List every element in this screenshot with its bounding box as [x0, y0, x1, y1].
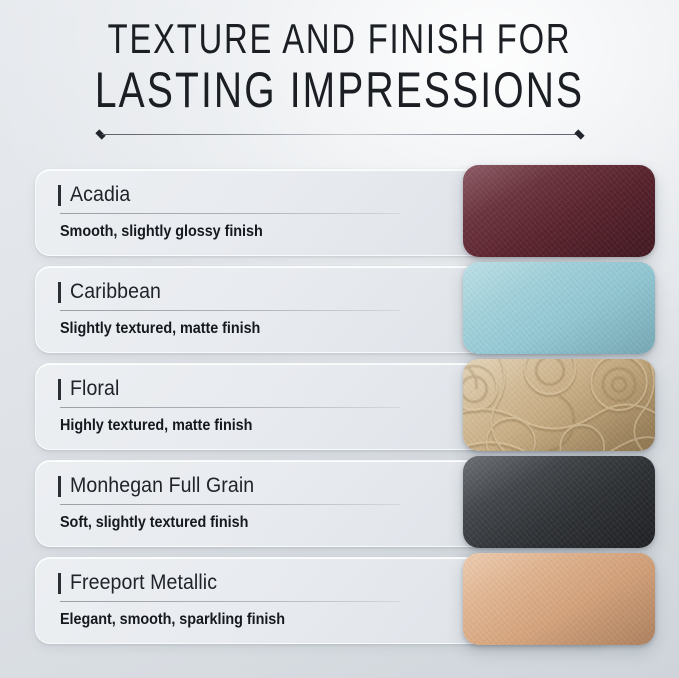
swatch-sheen — [463, 553, 655, 645]
swatch-row: AcadiaSmooth, slightly glossy finish — [0, 165, 679, 262]
swatch-card-body: AcadiaSmooth, slightly glossy finish — [58, 182, 458, 241]
swatch-name-line: Monhegan Full Grain — [58, 473, 458, 499]
diamond-right-icon — [574, 129, 584, 139]
swatch-sheen — [463, 262, 655, 354]
divider-ornament — [96, 130, 584, 139]
swatch-description: Highly textured, matte finish — [60, 417, 418, 435]
swatch-name: Floral — [70, 377, 119, 401]
accent-bar-icon — [58, 379, 61, 400]
page-title-line-1: TEXTURE AND FINISH FOR — [75, 18, 605, 61]
swatch-description: Slightly textured, matte finish — [60, 320, 418, 338]
swatch-name: Freeport Metallic — [70, 571, 217, 595]
swatch-name: Caribbean — [70, 280, 161, 304]
swatch-name-underline — [60, 213, 400, 214]
swatch-card-body: FloralHighly textured, matte finish — [58, 376, 458, 435]
swatch-name-underline — [60, 310, 400, 311]
color-swatch[interactable] — [463, 262, 655, 354]
color-swatch[interactable] — [463, 553, 655, 645]
infographic-page: TEXTURE AND FINISH FOR LASTING IMPRESSIO… — [0, 0, 679, 678]
swatch-name-line: Floral — [58, 376, 458, 402]
accent-bar-icon — [58, 282, 61, 303]
swatch-name-underline — [60, 504, 400, 505]
swatch-row: Freeport MetallicElegant, smooth, sparkl… — [0, 553, 679, 650]
accent-bar-icon — [58, 476, 61, 497]
swatch-name: Monhegan Full Grain — [70, 474, 254, 498]
swatch-card-body: Monhegan Full GrainSoft, slightly textur… — [58, 473, 458, 532]
color-swatch[interactable] — [463, 359, 655, 451]
accent-bar-icon — [58, 185, 61, 206]
swatch-sheen — [463, 359, 655, 451]
page-header: TEXTURE AND FINISH FOR LASTING IMPRESSIO… — [0, 18, 679, 116]
swatch-row: Monhegan Full GrainSoft, slightly textur… — [0, 456, 679, 553]
divider-rule — [102, 134, 578, 135]
swatch-description: Smooth, slightly glossy finish — [60, 223, 418, 241]
swatch-name-underline — [60, 407, 400, 408]
swatch-sheen — [463, 165, 655, 257]
swatch-card-body: Freeport MetallicElegant, smooth, sparkl… — [58, 570, 458, 629]
swatch-description: Soft, slightly textured finish — [60, 514, 418, 532]
color-swatch[interactable] — [463, 456, 655, 548]
swatch-name-line: Freeport Metallic — [58, 570, 458, 596]
swatch-list: AcadiaSmooth, slightly glossy finishCari… — [0, 165, 679, 650]
swatch-row: CaribbeanSlightly textured, matte finish — [0, 262, 679, 359]
swatch-name-underline — [60, 601, 400, 602]
swatch-name: Acadia — [70, 183, 130, 207]
swatch-name-line: Caribbean — [58, 279, 458, 305]
page-title-line-2: LASTING IMPRESSIONS — [75, 65, 605, 116]
swatch-description: Elegant, smooth, sparkling finish — [60, 611, 418, 629]
swatch-row: FloralHighly textured, matte finish — [0, 359, 679, 456]
swatch-card-body: CaribbeanSlightly textured, matte finish — [58, 279, 458, 338]
color-swatch[interactable] — [463, 165, 655, 257]
swatch-sheen — [463, 456, 655, 548]
accent-bar-icon — [58, 573, 61, 594]
swatch-name-line: Acadia — [58, 182, 458, 208]
